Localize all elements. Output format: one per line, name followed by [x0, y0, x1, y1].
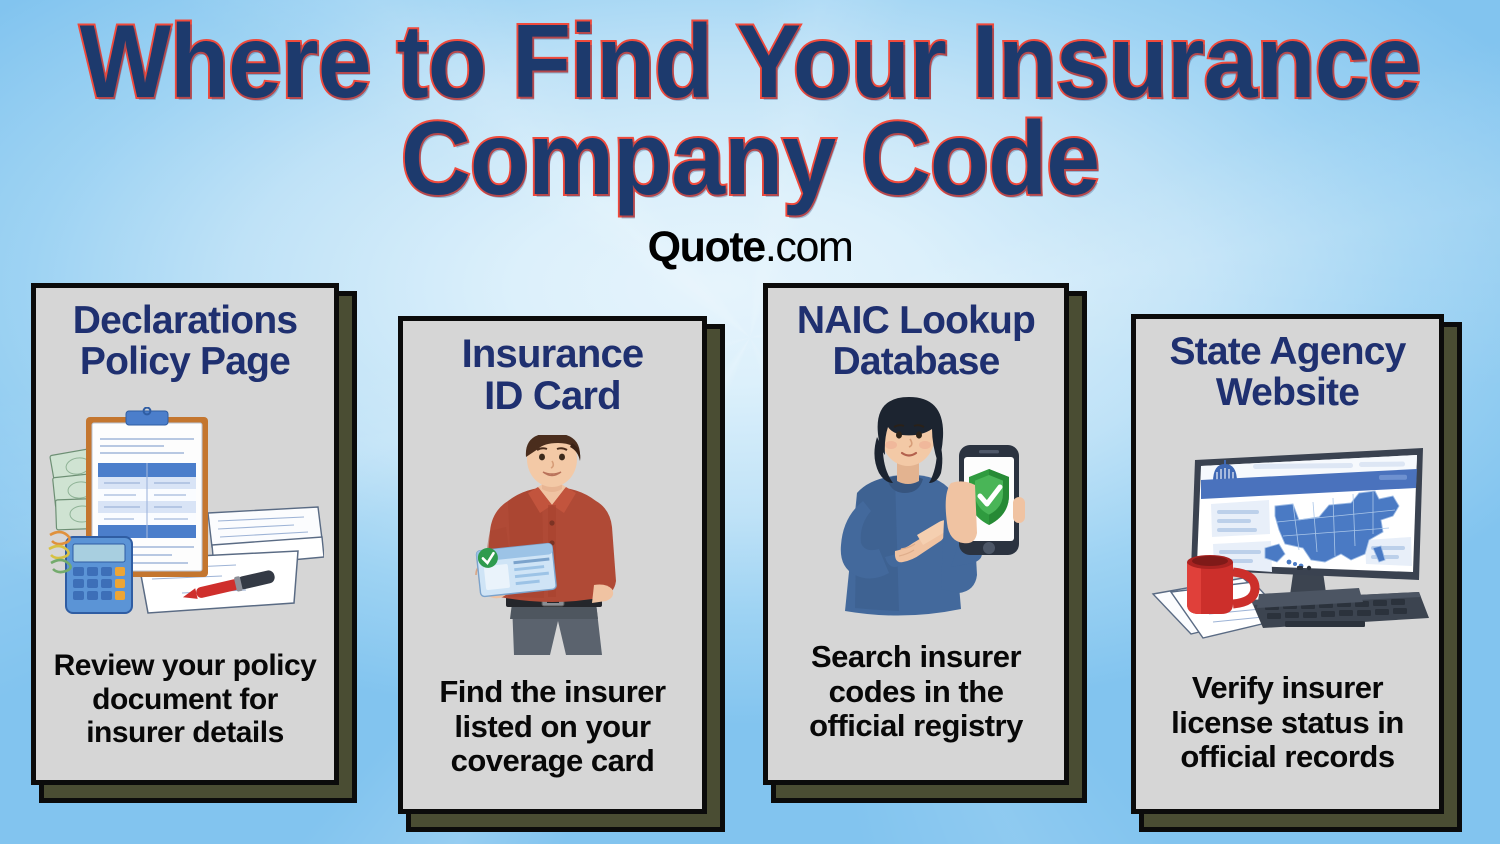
card-title-line-1: State Agency — [1169, 330, 1405, 373]
card-illustration — [1146, 414, 1429, 671]
brand-name: Quote — [648, 223, 765, 271]
card-title: NAIC Lookup Database — [797, 300, 1035, 383]
card-naic-lookup-database[interactable]: NAIC Lookup Database — [763, 283, 1069, 785]
card-title-line-2: Database — [832, 340, 999, 383]
card-illustration — [46, 383, 324, 650]
card-title-line-2: Policy Page — [80, 340, 290, 383]
desktop-monitor-us-map-website-icon — [1147, 442, 1429, 642]
card-title-line-1: Insurance — [462, 332, 644, 376]
page-title-line-2: Company Code — [53, 111, 1448, 208]
card-title: Declarations Policy Page — [73, 300, 298, 383]
card-title-line-2: ID Card — [484, 374, 621, 418]
card-declarations-policy-page[interactable]: Declarations Policy Page — [31, 283, 339, 785]
clipboard-policy-document-icon — [46, 407, 324, 625]
card-title-line-2: Website — [1216, 371, 1359, 414]
card-illustration — [778, 383, 1054, 640]
man-holding-insurance-id-card-icon — [438, 435, 668, 657]
brand-tld: .com — [765, 223, 853, 271]
page-title: Where to Find Your Insurance Company Cod… — [53, 0, 1448, 207]
card-insurance-id-card[interactable]: Insurance ID Card — [398, 316, 707, 814]
card-description: Review your policy document for insurer … — [46, 649, 324, 750]
brand-logo: Quote.com — [0, 223, 1500, 272]
card-state-agency-website[interactable]: State Agency Website — [1131, 314, 1444, 814]
woman-pointing-at-phone-shield-icon — [791, 397, 1041, 625]
card-description: Find the insurer listed on your coverage… — [413, 675, 692, 779]
card-title: Insurance ID Card — [462, 333, 644, 418]
infographic-header: Where to Find Your Insurance Company Cod… — [0, 0, 1500, 272]
card-title: State Agency Website — [1169, 331, 1405, 414]
card-title-line-1: Declarations — [73, 299, 298, 342]
card-illustration — [413, 418, 692, 675]
card-description: Verify insurer license status in officia… — [1146, 671, 1429, 775]
card-title-line-1: NAIC Lookup — [797, 299, 1035, 342]
card-description: Search insurer codes in the official reg… — [778, 640, 1054, 744]
